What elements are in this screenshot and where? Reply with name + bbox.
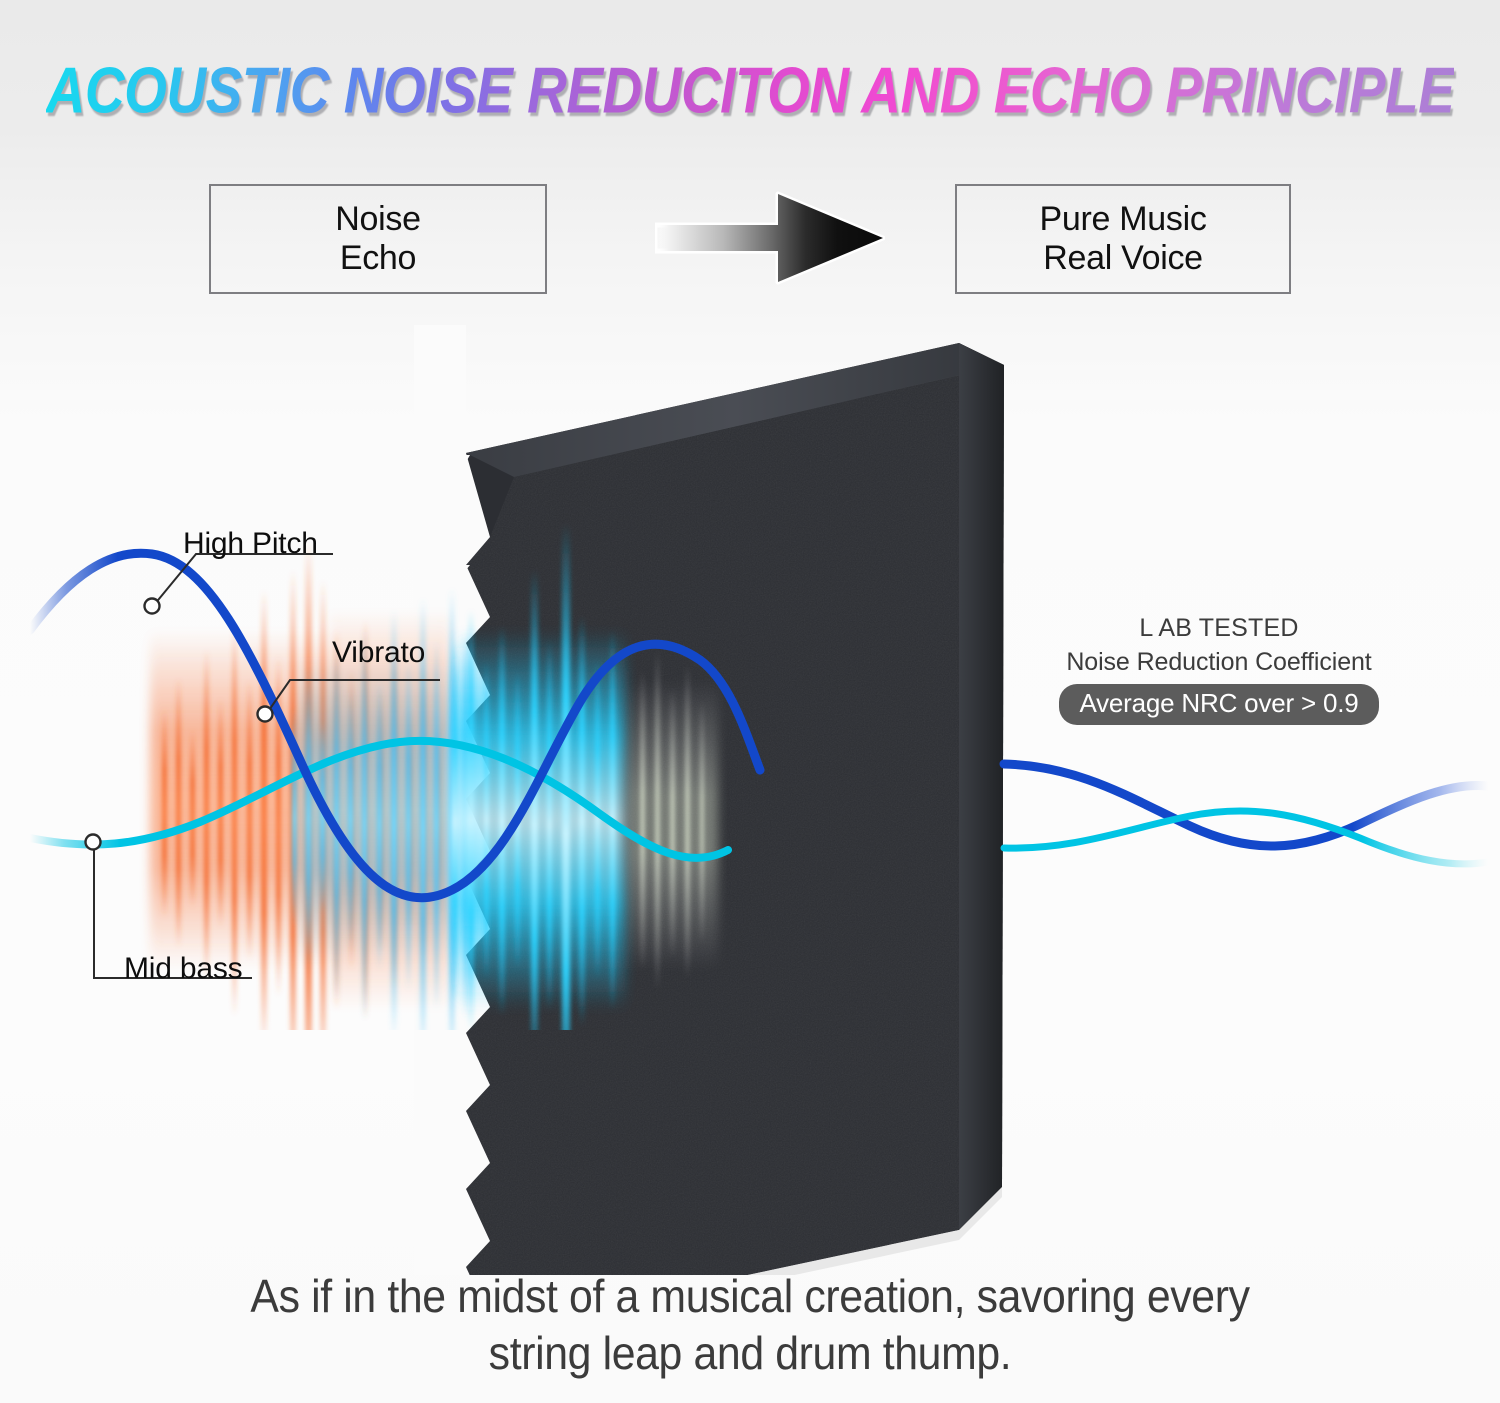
output-line-1: Pure Music xyxy=(1039,200,1206,239)
footer-caption: As if in the midst of a musical creation… xyxy=(53,1268,1448,1382)
caption-line-2: string leap and drum thump. xyxy=(53,1325,1448,1382)
page-title: ACOUSTIC NOISE REDUCITON AND ECHO PRINCI… xyxy=(46,52,1455,128)
input-state-box: Noise Echo xyxy=(209,184,547,294)
infographic-root: ACOUSTIC NOISE REDUCITON AND ECHO PRINCI… xyxy=(0,0,1500,1403)
title-banner: ACOUSTIC NOISE REDUCITON AND ECHO PRINCI… xyxy=(0,56,1500,124)
callout-label-mid-bass: Mid bass xyxy=(124,952,242,986)
input-line-1: Noise xyxy=(335,200,420,239)
output-state-box: Pure Music Real Voice xyxy=(955,184,1291,294)
output-line-2: Real Voice xyxy=(1043,239,1203,278)
nrc-badge: Average NRC over > 0.9 xyxy=(1059,684,1378,725)
caption-line-1: As if in the midst of a musical creation… xyxy=(53,1268,1448,1325)
panel-absorption-spikes xyxy=(452,524,718,1030)
right-arrow-icon xyxy=(655,186,885,290)
lab-tested-block: L AB TESTED Noise Reduction Coefficient … xyxy=(1046,612,1392,725)
lab-tested-heading: L AB TESTED xyxy=(1046,612,1392,644)
nrc-subtitle: Noise Reduction Coefficient xyxy=(1046,646,1392,678)
callout-label-high-pitch: High Pitch xyxy=(183,527,318,561)
input-line-2: Echo xyxy=(340,239,416,278)
callout-label-vibrato: Vibrato xyxy=(332,636,425,670)
